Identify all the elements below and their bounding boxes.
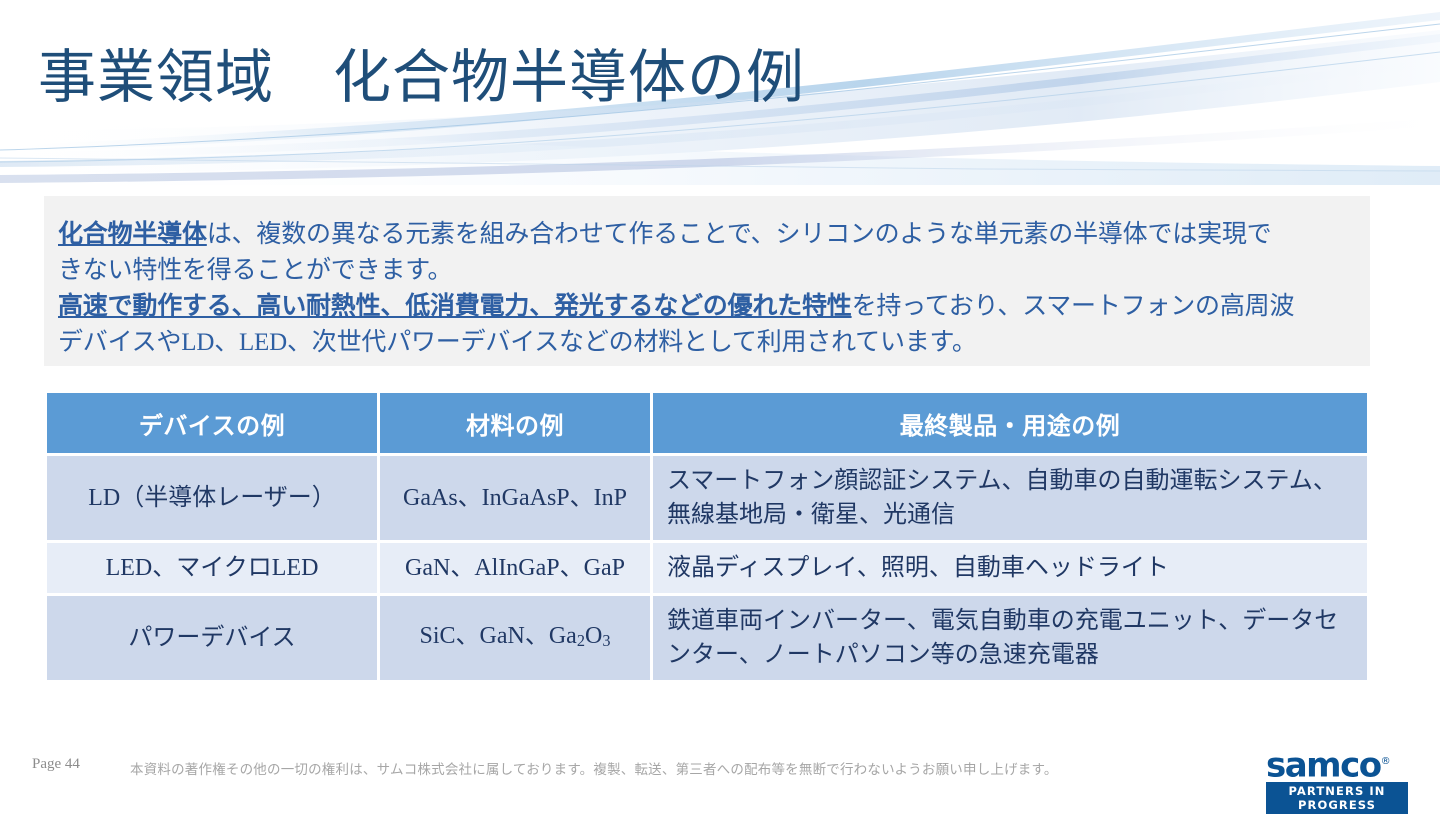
cell-material-ld: GaAs、InGaAsP、InP bbox=[380, 456, 650, 540]
summary-line-4: デバイスやLD、LED、次世代パワーデバイスなどの材料として利用されています。 bbox=[58, 324, 1356, 361]
table-header-row: デバイスの例 材料の例 最終製品・用途の例 bbox=[47, 393, 1367, 453]
cell-material-led: GaN、AlInGaP、GaP bbox=[380, 543, 650, 593]
column-header-product: 最終製品・用途の例 bbox=[653, 393, 1367, 453]
samco-logo: samco® PARTNERS IN PROGRESS bbox=[1266, 746, 1418, 798]
logo-wordmark: samco® bbox=[1266, 746, 1391, 781]
summary-keyword-properties: 高速で動作する、高い耐熱性、低消費電力、発光するなどの優れた特性 bbox=[58, 292, 852, 320]
summary-line-3-rest: を持っており、スマートフォンの高周波 bbox=[852, 292, 1295, 320]
copyright-notice: 本資料の著作権その他の一切の権利は、サムコ株式会社に属しております。複製、転送、… bbox=[130, 758, 1058, 778]
cell-material-power: SiC、GaN、Ga2O3 bbox=[380, 596, 650, 680]
summary-line-1-rest: は、複数の異なる元素を組み合わせて作ることで、シリコンのような単元素の半導体では… bbox=[207, 220, 1272, 248]
column-header-device: デバイスの例 bbox=[47, 393, 377, 453]
cell-device-ld: LD（半導体レーザー） bbox=[47, 456, 377, 540]
summary-line-4-c: 、次世代パワーデバイスなどの材料として利用されています。 bbox=[287, 328, 977, 356]
cell-device-led: LED、マイクロLED bbox=[47, 543, 377, 593]
summary-keyword-compound-semiconductor: 化合物半導体 bbox=[58, 220, 207, 248]
material-power-sub1: 2 bbox=[577, 630, 585, 649]
table-row: LD（半導体レーザー） GaAs、InGaAsP、InP スマートフォン顔認証シ… bbox=[47, 456, 1367, 540]
summary-line-2: きない特性を得ることができます。 bbox=[58, 252, 1356, 288]
compound-semiconductor-table: デバイスの例 材料の例 最終製品・用途の例 LD（半導体レーザー） GaAs、I… bbox=[44, 390, 1370, 683]
slide-footer: Page 44 本資料の著作権その他の一切の権利は、サムコ株式会社に属しておりま… bbox=[0, 738, 1440, 810]
summary-line-4-devices: LD、LED bbox=[181, 329, 287, 356]
registered-trademark-icon: ® bbox=[1381, 756, 1391, 767]
cell-product-power: 鉄道車両インバーター、電気自動車の充電ユニット、データセンター、ノートパソコン等… bbox=[653, 596, 1367, 680]
material-power-sub2: 3 bbox=[602, 630, 610, 649]
summary-line-3: 高速で動作する、高い耐熱性、低消費電力、発光するなどの優れた特性を持っており、ス… bbox=[58, 288, 1356, 324]
logo-tagline: PARTNERS IN PROGRESS bbox=[1266, 782, 1408, 814]
table-row: LED、マイクロLED GaN、AlInGaP、GaP 液晶ディスプレイ、照明、… bbox=[47, 543, 1367, 593]
summary-line-1: 化合物半導体は、複数の異なる元素を組み合わせて作ることで、シリコンのような単元素… bbox=[58, 216, 1356, 252]
cell-product-led: 液晶ディスプレイ、照明、自動車ヘッドライト bbox=[653, 543, 1367, 593]
page-title: 事業領域 化合物半導体の例 bbox=[38, 48, 805, 109]
summary-line-4-a: デバイスや bbox=[58, 328, 181, 356]
cell-product-ld: スマートフォン顔認証システム、自動車の自動運転システム、無線基地局・衛星、光通信 bbox=[653, 456, 1367, 540]
table-row: パワーデバイス SiC、GaN、Ga2O3 鉄道車両インバーター、電気自動車の充… bbox=[47, 596, 1367, 680]
material-power-mid: O bbox=[585, 623, 602, 649]
logo-wordmark-text: samco bbox=[1266, 745, 1381, 785]
material-power-prefix: SiC、GaN、Ga bbox=[420, 623, 577, 649]
page-number: Page 44 bbox=[32, 756, 80, 773]
column-header-material: 材料の例 bbox=[380, 393, 650, 453]
cell-device-power: パワーデバイス bbox=[47, 596, 377, 680]
summary-text-box: 化合物半導体は、複数の異なる元素を組み合わせて作ることで、シリコンのような単元素… bbox=[44, 196, 1370, 366]
